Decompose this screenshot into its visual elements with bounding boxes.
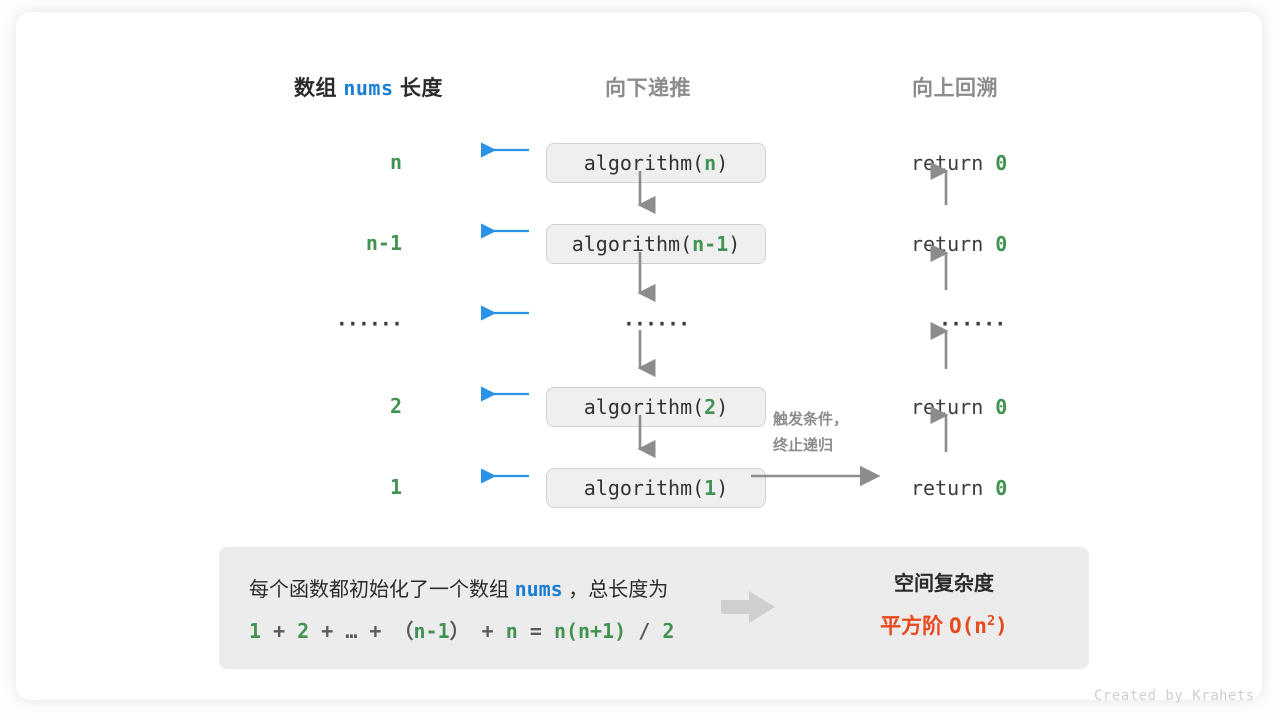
column-header-backtrack-up: 向上回溯 bbox=[912, 72, 998, 102]
length-value: 1 bbox=[282, 475, 402, 499]
call-box-row-4[interactable]: algorithm(1) bbox=[546, 468, 766, 508]
call-text-suffix: ) bbox=[716, 151, 728, 175]
diagram-canvas: 数组 nums 长度 向下递推 向上回溯 n n-1 ······ 2 1 al… bbox=[0, 0, 1280, 720]
call-text-prefix: algorithm( bbox=[584, 395, 704, 419]
length-value: n bbox=[282, 150, 402, 174]
formula-part: + bbox=[309, 619, 345, 643]
call-text-suffix: ) bbox=[716, 476, 728, 500]
formula-part: n(n+1) bbox=[554, 619, 626, 643]
call-text-suffix: ) bbox=[716, 395, 728, 419]
return-value: 0 bbox=[995, 476, 1007, 500]
return-column-ellipsis: ······ bbox=[939, 312, 1005, 336]
credit-text: Created by Krahets bbox=[1094, 688, 1255, 704]
formula-part: + bbox=[357, 619, 393, 643]
formula-part: + bbox=[470, 619, 506, 643]
summary-desc-prefix: 每个函数都初始化了一个数组 bbox=[249, 579, 509, 601]
formula-part: + bbox=[261, 619, 297, 643]
summary-desc-mono: nums bbox=[515, 577, 563, 601]
formula-part: ） bbox=[450, 619, 470, 643]
return-row-4: return 0 bbox=[911, 476, 1007, 500]
return-row-3: return 0 bbox=[911, 395, 1007, 419]
diagram-card: 数组 nums 长度 向下递推 向上回溯 n n-1 ······ 2 1 al… bbox=[16, 12, 1262, 700]
formula-part: … bbox=[345, 619, 357, 643]
call-text-suffix: ) bbox=[728, 232, 740, 256]
return-row-1: return 0 bbox=[911, 232, 1007, 256]
formula-part: = bbox=[518, 619, 554, 643]
summary-result-title: 空间复杂度 bbox=[819, 567, 1069, 596]
call-text-prefix: algorithm( bbox=[584, 476, 704, 500]
call-argument: 2 bbox=[704, 395, 716, 419]
formula-part: 2 bbox=[297, 619, 309, 643]
call-box-row-1[interactable]: algorithm(n-1) bbox=[546, 224, 766, 264]
formula-part: （ bbox=[394, 619, 414, 643]
call-text-prefix: algorithm( bbox=[572, 232, 692, 256]
call-box-row-3[interactable]: algorithm(2) bbox=[546, 387, 766, 427]
formula-part: n bbox=[506, 619, 518, 643]
return-row-0: return 0 bbox=[911, 151, 1007, 175]
complexity-close-paren: ) bbox=[995, 614, 1008, 638]
column-header-array-length: 数组 nums 长度 bbox=[294, 72, 443, 102]
call-column-ellipsis: ······ bbox=[546, 312, 766, 336]
summary-panel: 每个函数都初始化了一个数组 nums ，总长度为 1 + 2 + … + （n-… bbox=[219, 547, 1089, 669]
call-box-row-0[interactable]: algorithm(n) bbox=[546, 143, 766, 183]
call-argument: n bbox=[704, 151, 716, 175]
implies-arrow-icon bbox=[719, 587, 779, 627]
formula-part: n-1 bbox=[414, 619, 450, 643]
complexity-notation: O(n bbox=[949, 614, 987, 638]
call-text-prefix: algorithm( bbox=[584, 151, 704, 175]
termination-note-line1: 触发条件， bbox=[773, 407, 903, 433]
summary-desc-suffix: ，总长度为 bbox=[568, 579, 668, 601]
length-value: 2 bbox=[282, 394, 402, 418]
call-argument: 1 bbox=[704, 476, 716, 500]
header-left-prefix: 数组 bbox=[294, 77, 337, 100]
formula-part: 1 bbox=[249, 619, 261, 643]
summary-result-value: 平方阶 O(n2) bbox=[819, 610, 1069, 640]
return-keyword: return bbox=[911, 395, 983, 419]
call-argument: n-1 bbox=[692, 232, 728, 256]
return-value: 0 bbox=[995, 151, 1007, 175]
return-value: 0 bbox=[995, 232, 1007, 256]
header-left-suffix: 长度 bbox=[400, 77, 443, 100]
complexity-name: 平方阶 bbox=[880, 615, 943, 638]
return-keyword: return bbox=[911, 151, 983, 175]
return-keyword: return bbox=[911, 232, 983, 256]
termination-note-line2: 终止递归 bbox=[773, 433, 903, 459]
return-keyword: return bbox=[911, 476, 983, 500]
summary-description: 每个函数都初始化了一个数组 nums ，总长度为 bbox=[249, 573, 668, 602]
summary-formula: 1 + 2 + … + （n-1） + n = n(n+1) / 2 bbox=[249, 615, 674, 644]
summary-result: 空间复杂度 平方阶 O(n2) bbox=[819, 567, 1069, 640]
complexity-exponent: 2 bbox=[987, 613, 995, 629]
length-value: n-1 bbox=[282, 231, 402, 255]
formula-part: / bbox=[626, 619, 662, 643]
header-left-mono: nums bbox=[343, 76, 393, 100]
ellipsis-dots: ······ bbox=[282, 312, 402, 336]
column-header-recursion-down: 向下递推 bbox=[605, 72, 691, 102]
termination-note: 触发条件， 终止递归 bbox=[773, 407, 903, 460]
return-value: 0 bbox=[995, 395, 1007, 419]
formula-part: 2 bbox=[662, 619, 674, 643]
